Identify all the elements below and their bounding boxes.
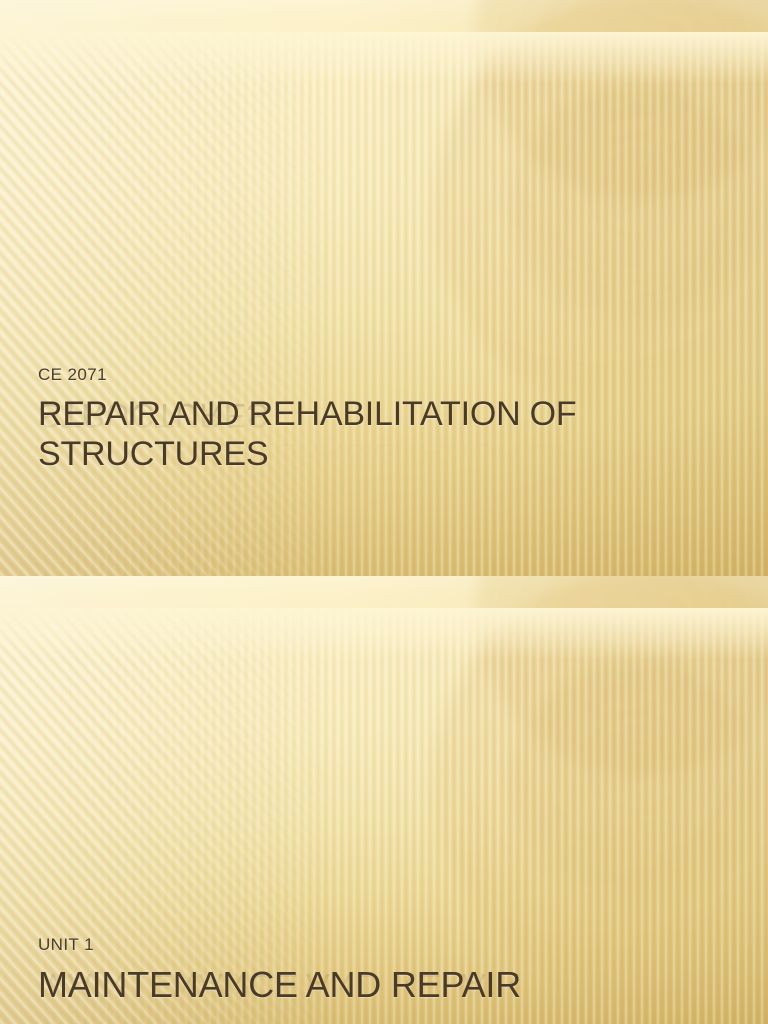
- slide-1-title-line-1: REPAIR AND REHABILITATION OF: [38, 395, 576, 433]
- slide-2[interactable]: UNIT 1 MAINTENANCE AND REPAIR MAINTENANC…: [0, 576, 768, 1024]
- slide-2-text-block: UNIT 1 MAINTENANCE AND REPAIR MAINTENANC…: [38, 936, 728, 1007]
- slide-2-eyebrow: UNIT 1: [38, 936, 728, 955]
- stripe-top-fade: [0, 608, 768, 660]
- slide-1[interactable]: CE 2071 REPAIR AND REHABILITATION OF STR…: [0, 0, 768, 576]
- slide-1-title-wrap: REPAIR AND REHABILITATION OF STRUCTURES …: [38, 394, 728, 475]
- slide-1-eyebrow: CE 2071: [38, 366, 728, 385]
- diagonal-stripes: [0, 32, 768, 576]
- slide-1-pinstripe-texture: [0, 32, 768, 576]
- stripe-top-fade: [0, 32, 768, 84]
- slide-1-title-line-2: STRUCTURES: [38, 435, 268, 473]
- slide-2-title-wrap: MAINTENANCE AND REPAIR MAINTENANCE AND R…: [38, 964, 728, 1007]
- slide-2-title: MAINTENANCE AND REPAIR: [38, 964, 728, 1007]
- slide-1-text-block: CE 2071 REPAIR AND REHABILITATION OF STR…: [38, 366, 728, 475]
- document-page: CE 2071 REPAIR AND REHABILITATION OF STR…: [0, 0, 768, 1024]
- slide-1-title: REPAIR AND REHABILITATION OF STRUCTURES: [38, 394, 728, 475]
